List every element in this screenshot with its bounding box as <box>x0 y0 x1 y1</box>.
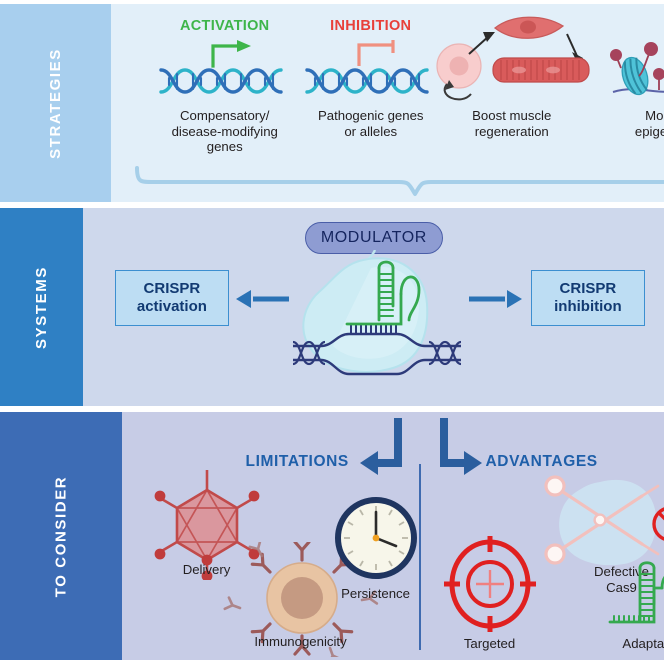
crispr-inhibition-line1: CRISPR <box>554 280 621 298</box>
grna-scaffold-icon <box>604 560 664 640</box>
consider-label-immunogenicity: Immunogenicity <box>218 634 384 650</box>
caption-line: Modulation of <box>605 108 664 124</box>
crosshair-target-icon <box>442 536 538 632</box>
strategy-heading-activation: ACTIVATION <box>145 18 305 34</box>
section-label-strategies-text: STRATEGIES <box>47 48 64 159</box>
arrow-right-icon <box>467 288 523 310</box>
section-body-strategies: ACTIVATION <box>111 4 664 202</box>
section-label-systems: SYSTEMS <box>0 208 83 406</box>
section-label-consider: TO CONSIDER <box>0 412 122 660</box>
clock-icon <box>334 496 418 580</box>
consider-label-targeted: Targeted <box>440 636 540 652</box>
section-label-consider-text: TO CONSIDER <box>52 475 69 597</box>
strategy-caption-muscle: Boost muscle regeneration <box>429 108 595 139</box>
crispr-activation-line2: activation <box>137 298 207 316</box>
dcas9-grna-dna-complex-icon <box>293 254 463 400</box>
nucleosome-epigenetic-marks-icon <box>609 24 664 104</box>
caption-line: epigenetic marks <box>605 124 664 140</box>
section-label-strategies: STRATEGIES <box>0 4 111 202</box>
consider-label-persistence: Persistence <box>326 586 426 602</box>
caption-line: regeneration <box>429 124 595 140</box>
limitations-advantages-divider <box>419 464 421 650</box>
advantages-header: ADVANTAGES <box>486 453 598 471</box>
section-body-consider: LIMITATIONS ADVANTAGES <box>122 412 664 660</box>
crispr-strategy-figure: STRATEGIES ACTIVATION <box>0 0 664 664</box>
consider-label-adaptability: Adaptability <box>592 636 664 652</box>
crispr-inhibition-line2: inhibition <box>554 298 621 316</box>
limitations-elbow-arrow-icon <box>358 418 408 478</box>
limitations-header: LIMITATIONS <box>246 453 349 471</box>
dna-inhibition-bar-icon <box>301 40 441 102</box>
modulator-label: MODULATOR <box>321 229 427 247</box>
advantages-elbow-arrow-icon <box>434 418 484 478</box>
caption-line: genes <box>125 139 325 155</box>
strategy-caption-epigenetic: Modulation of epigenetic marks <box>605 108 664 139</box>
section-label-systems-text: SYSTEMS <box>33 266 50 349</box>
arrow-left-icon <box>235 288 291 310</box>
section-strategies: STRATEGIES ACTIVATION <box>0 4 664 202</box>
crispr-activation-line1: CRISPR <box>137 280 207 298</box>
muscle-regeneration-icon <box>427 10 597 106</box>
converging-brace <box>131 164 664 198</box>
caption-line: Boost muscle <box>429 108 595 124</box>
section-body-systems: MODULATOR <box>83 208 664 406</box>
crispr-inhibition-box[interactable]: CRISPR inhibition <box>531 270 645 326</box>
section-systems: SYSTEMS MODULATOR <box>0 208 664 406</box>
dna-activation-arrow-icon <box>155 40 295 102</box>
section-consider: TO CONSIDER LIMITATIONS ADVANTAGES <box>0 412 664 660</box>
crispr-activation-box[interactable]: CRISPR activation <box>115 270 229 326</box>
